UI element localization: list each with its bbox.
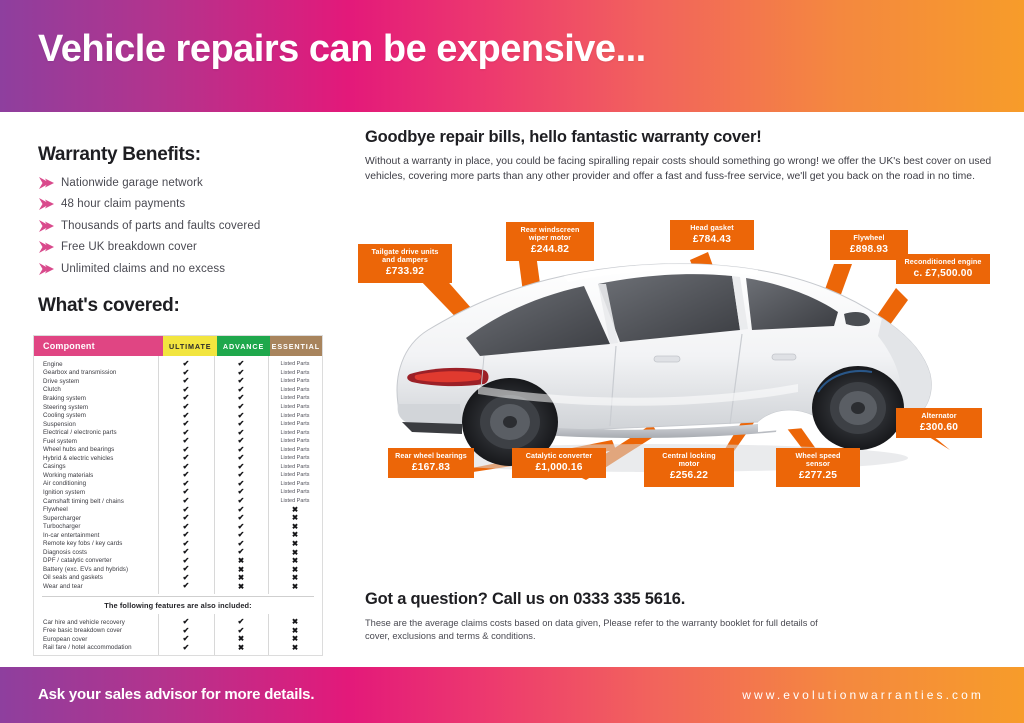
listed-parts-label: Listed Parts [268, 455, 322, 461]
callout-price: c. £7,500.00 [903, 268, 983, 279]
tick-icon: ✔ [158, 497, 214, 505]
listed-parts-label: Listed Parts [268, 464, 322, 470]
coverage-table-body: Engine✔✔Listed PartsGearbox and transmis… [34, 356, 322, 594]
cross-icon: ✖ [214, 635, 268, 643]
listed-parts-label: Listed Parts [268, 361, 322, 367]
column-divider [268, 356, 269, 594]
callout-head-gasket[interactable]: Head gasket£784.43 [670, 220, 754, 250]
component-name: Battery (exc. EVs and hybrids) [34, 566, 158, 573]
column-divider [158, 614, 159, 655]
component-name: Drive system [34, 378, 158, 385]
callout-price: £898.93 [837, 244, 901, 255]
listed-parts-label: Listed Parts [268, 378, 322, 384]
tick-icon: ✔ [158, 531, 214, 539]
component-name: Wheel hubs and bearings [34, 446, 158, 453]
cross-icon: ✖ [214, 574, 268, 582]
table-row: Braking system✔✔Listed Parts [34, 394, 322, 403]
chevron-right-icon [36, 219, 58, 233]
column-header-ultimate: ULTIMATE [163, 336, 217, 356]
component-name: Engine [34, 361, 158, 368]
extra-features-body: Car hire and vehicle recovery✔✔✖Free bas… [34, 614, 322, 655]
tick-icon: ✔ [214, 514, 268, 522]
footer-banner: Ask your sales advisor for more details.… [0, 667, 1024, 723]
cross-icon: ✖ [268, 514, 322, 522]
cross-icon: ✖ [214, 583, 268, 591]
listed-parts-label: Listed Parts [268, 481, 322, 487]
benefit-label: Free UK breakdown cover [61, 241, 197, 253]
callout-part-name: Head gasket [677, 224, 747, 232]
component-name: Hybrid & electric vehicles [34, 455, 158, 462]
table-row: Turbocharger✔✔✖ [34, 522, 322, 531]
cross-icon: ✖ [214, 566, 268, 574]
component-name: Gearbox and transmission [34, 369, 158, 376]
callout-part-name: Reconditioned engine [903, 258, 983, 266]
vehicle-cost-diagram: Tailgate drive units and dampers£733.92 … [340, 212, 1024, 542]
component-name: Oil seals and gaskets [34, 574, 158, 581]
listed-parts-label: Listed Parts [268, 447, 322, 453]
callout-central-locking-motor[interactable]: Central locking motor£256.22 [644, 448, 734, 487]
table-row: Air conditioning✔✔Listed Parts [34, 480, 322, 489]
cta-disclaimer: These are the average claims costs based… [365, 617, 835, 644]
page-title: Vehicle repairs can be expensive... [38, 28, 646, 71]
tick-icon: ✔ [158, 514, 214, 522]
table-row: European cover✔✖✖ [34, 635, 322, 644]
table-row: Ignition system✔✔Listed Parts [34, 488, 322, 497]
component-name: Electrical / electronic parts [34, 429, 158, 436]
callout-part-name: Wheel speed sensor [783, 452, 853, 468]
benefit-label: Nationwide garage network [61, 177, 203, 189]
column-divider [214, 614, 215, 655]
tick-icon: ✔ [214, 497, 268, 505]
component-name: Car hire and vehicle recovery [34, 619, 158, 626]
callout-rear-wheel-bearings[interactable]: Rear wheel bearings£167.83 [388, 448, 474, 478]
table-row: Diagnosis costs✔✔✖ [34, 548, 322, 557]
chevron-right-icon [36, 197, 58, 211]
tick-icon: ✔ [158, 437, 214, 445]
table-row: In-car entertainment✔✔✖ [34, 531, 322, 540]
tick-icon: ✔ [214, 437, 268, 445]
callout-wiper[interactable]: Rear windscreen wiper motor£244.82 [506, 222, 594, 261]
cross-icon: ✖ [268, 627, 322, 635]
table-row: Flywheel✔✔✖ [34, 505, 322, 514]
callout-part-name: Alternator [903, 412, 975, 420]
footer-tagline: Ask your sales advisor for more details. [38, 686, 314, 703]
component-name: In-car entertainment [34, 532, 158, 539]
header-banner: Vehicle repairs can be expensive... [0, 0, 1024, 112]
cross-icon: ✖ [268, 506, 322, 514]
callout-alternator[interactable]: Alternator£300.60 [896, 408, 982, 438]
table-row: Camshaft timing belt / chains✔✔Listed Pa… [34, 497, 322, 506]
table-row: Supercharger✔✔✖ [34, 514, 322, 523]
cross-icon: ✖ [268, 635, 322, 643]
cross-icon: ✖ [268, 644, 322, 652]
coverage-table: Component ULTIMATE ADVANCE ESSENTIAL Eng… [33, 335, 323, 656]
tick-icon: ✔ [158, 635, 214, 643]
column-divider [158, 356, 159, 594]
main-heading: Goodbye repair bills, hello fantastic wa… [365, 128, 762, 147]
footer-website[interactable]: www.evolutionwarranties.com [742, 688, 984, 702]
tick-icon: ✔ [214, 618, 268, 626]
component-name: Casings [34, 463, 158, 470]
table-row: Suspension✔✔Listed Parts [34, 420, 322, 429]
table-row: Electrical / electronic parts✔✔Listed Pa… [34, 428, 322, 437]
component-name: Turbocharger [34, 523, 158, 530]
cross-icon: ✖ [268, 583, 322, 591]
table-row: Working materials✔✔Listed Parts [34, 471, 322, 480]
tick-icon: ✔ [214, 420, 268, 428]
listed-parts-label: Listed Parts [268, 430, 322, 436]
listed-parts-label: Listed Parts [268, 438, 322, 444]
table-row: Remote key fobs / key cards✔✔✖ [34, 539, 322, 548]
table-row: Wear and tear✔✖✖ [34, 582, 322, 591]
column-divider [268, 614, 269, 655]
callout-wheel-speed-sensor[interactable]: Wheel speed sensor£277.25 [776, 448, 860, 487]
cross-icon: ✖ [268, 523, 322, 531]
callout-part-name: Rear windscreen wiper motor [513, 226, 587, 242]
column-header-essential: ESSENTIAL [270, 336, 322, 356]
listed-parts-label: Listed Parts [268, 395, 322, 401]
component-name: Rail fare / hotel accommodation [34, 644, 158, 651]
component-name: Fuel system [34, 438, 158, 445]
tick-icon: ✔ [214, 531, 268, 539]
table-row: Fuel system✔✔Listed Parts [34, 437, 322, 446]
left-column: Warranty Benefits: Nationwide garage net… [0, 112, 340, 667]
tick-icon: ✔ [158, 420, 214, 428]
callout-part-name: Flywheel [837, 234, 901, 242]
table-row: Car hire and vehicle recovery✔✔✖ [34, 618, 322, 627]
column-header-component: Component [34, 336, 163, 356]
callout-price: £300.60 [903, 422, 975, 433]
component-name: Diagnosis costs [34, 549, 158, 556]
component-name: Supercharger [34, 515, 158, 522]
component-name: Suspension [34, 421, 158, 428]
tick-icon: ✔ [214, 403, 268, 411]
callout-price: £784.43 [677, 234, 747, 245]
table-row: Steering system✔✔Listed Parts [34, 403, 322, 412]
benefit-label: 48 hour claim payments [61, 198, 185, 210]
table-row: Clutch✔✔Listed Parts [34, 386, 322, 395]
right-column: Goodbye repair bills, hello fantastic wa… [340, 112, 1024, 667]
cross-icon: ✖ [268, 618, 322, 626]
component-name: Camshaft timing belt / chains [34, 498, 158, 505]
warranty-benefits-list: Nationwide garage network48 hour claim p… [36, 172, 336, 280]
listed-parts-label: Listed Parts [268, 489, 322, 495]
component-name: Free basic breakdown cover [34, 627, 158, 634]
cross-icon: ✖ [268, 566, 322, 574]
table-row: Drive system✔✔Listed Parts [34, 377, 322, 386]
listed-parts-label: Listed Parts [268, 387, 322, 393]
component-name: Flywheel [34, 506, 158, 513]
main-body-text: Without a warranty in place, you could b… [365, 155, 997, 185]
column-header-advance: ADVANCE [217, 336, 269, 356]
component-name: Remote key fobs / key cards [34, 540, 158, 547]
benefit-item: Free UK breakdown cover [36, 237, 336, 259]
tick-icon: ✔ [214, 548, 268, 556]
table-row: Cooling system✔✔Listed Parts [34, 411, 322, 420]
callout-part-name: Central locking motor [651, 452, 727, 468]
listed-parts-label: Listed Parts [268, 421, 322, 427]
listed-parts-label: Listed Parts [268, 498, 322, 504]
table-row: Free basic breakdown cover✔✔✖ [34, 626, 322, 635]
cross-icon: ✖ [214, 644, 268, 652]
listed-parts-label: Listed Parts [268, 413, 322, 419]
chevron-right-icon [36, 262, 58, 276]
listed-parts-label: Listed Parts [268, 472, 322, 478]
callout-catalytic-converter[interactable]: Catalytic converter£1,000.16 [512, 448, 606, 478]
callout-price: £277.25 [783, 470, 853, 481]
table-row: Battery (exc. EVs and hybrids)✔✖✖ [34, 565, 322, 574]
callout-part-name: Tailgate drive units and dampers [365, 248, 445, 264]
component-name: DPF / catalytic converter [34, 557, 158, 564]
tick-icon: ✔ [214, 627, 268, 635]
cross-icon: ✖ [268, 540, 322, 548]
cross-icon: ✖ [214, 557, 268, 565]
table-row: Wheel hubs and bearings✔✔Listed Parts [34, 445, 322, 454]
extra-features-subheading: The following features are also included… [34, 597, 322, 614]
component-name: Ignition system [34, 489, 158, 496]
callout-price: £167.83 [395, 462, 467, 473]
callout-reconditioned-engine[interactable]: Reconditioned enginec. £7,500.00 [896, 254, 990, 284]
table-row: Oil seals and gaskets✔✖✖ [34, 574, 322, 583]
chevron-right-icon [36, 240, 58, 254]
table-row: Engine✔✔Listed Parts [34, 360, 322, 369]
tick-icon: ✔ [158, 403, 214, 411]
cross-icon: ✖ [268, 549, 322, 557]
tick-icon: ✔ [158, 618, 214, 626]
component-name: Braking system [34, 395, 158, 402]
callout-price: £256.22 [651, 470, 727, 481]
benefit-item: Thousands of parts and faults covered [36, 215, 336, 237]
cross-icon: ✖ [268, 574, 322, 582]
callout-price: £733.92 [365, 266, 445, 277]
listed-parts-label: Listed Parts [268, 370, 322, 376]
listed-parts-label: Listed Parts [268, 404, 322, 410]
component-name: Wear and tear [34, 583, 158, 590]
cross-icon: ✖ [268, 557, 322, 565]
benefit-label: Unlimited claims and no excess [61, 263, 225, 275]
cross-icon: ✖ [268, 531, 322, 539]
component-name: Air conditioning [34, 480, 158, 487]
brochure-page: Vehicle repairs can be expensive... Warr… [0, 0, 1024, 723]
benefit-label: Thousands of parts and faults covered [61, 220, 260, 232]
component-name: European cover [34, 636, 158, 643]
component-name: Steering system [34, 404, 158, 411]
table-row: DPF / catalytic converter✔✖✖ [34, 557, 322, 566]
benefit-item: Unlimited claims and no excess [36, 258, 336, 280]
table-row: Gearbox and transmission✔✔Listed Parts [34, 369, 322, 378]
coverage-table-header: Component ULTIMATE ADVANCE ESSENTIAL [34, 336, 322, 356]
callout-price: £244.82 [513, 244, 587, 255]
table-row: Rail fare / hotel accommodation✔✖✖ [34, 643, 322, 652]
table-row: Hybrid & electric vehicles✔✔Listed Parts [34, 454, 322, 463]
table-row: Casings✔✔Listed Parts [34, 463, 322, 472]
tick-icon: ✔ [158, 644, 214, 652]
cta-heading: Got a question? Call us on 0333 335 5616… [365, 590, 685, 609]
whats-covered-title: What's covered: [38, 295, 180, 317]
warranty-benefits-title: Warranty Benefits: [38, 144, 201, 166]
component-name: Cooling system [34, 412, 158, 419]
chevron-right-icon [36, 176, 58, 190]
benefit-item: 48 hour claim payments [36, 194, 336, 216]
callout-part-name: Catalytic converter [519, 452, 599, 460]
callout-part-name: Rear wheel bearings [395, 452, 467, 460]
component-name: Clutch [34, 386, 158, 393]
callout-tailgate[interactable]: Tailgate drive units and dampers£733.92 [358, 244, 452, 283]
benefit-item: Nationwide garage network [36, 172, 336, 194]
callout-price: £1,000.16 [519, 462, 599, 473]
component-name: Working materials [34, 472, 158, 479]
tick-icon: ✔ [158, 582, 214, 590]
column-divider [214, 356, 215, 594]
